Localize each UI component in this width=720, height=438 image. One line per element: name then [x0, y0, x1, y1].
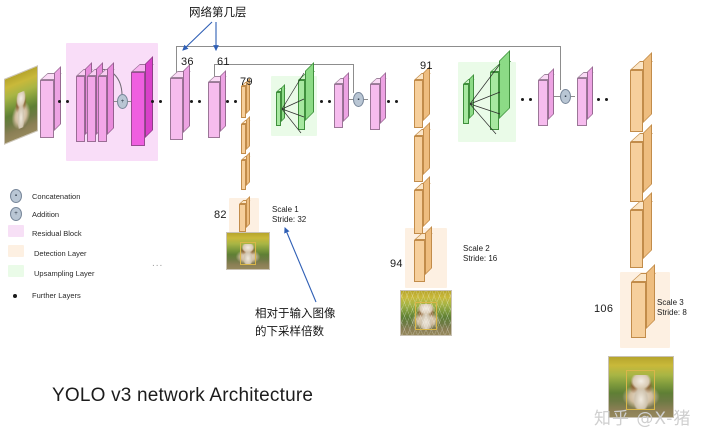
legend-label-detection-layer: Detection Layer — [34, 249, 87, 258]
detection-layer-81 — [241, 160, 246, 190]
further-layers-dot — [66, 100, 69, 103]
scale1-label: Scale 1 Stride: 32 — [272, 205, 306, 226]
downsample-note-line2: 的下采样倍数 — [255, 323, 324, 339]
concat-glyph: ▪ — [357, 96, 359, 102]
detection-layer-91 — [414, 80, 423, 128]
scale3-stride: Stride: 8 — [657, 308, 687, 318]
further-layers-dot — [387, 100, 390, 103]
further-layers-dot — [320, 100, 323, 103]
skip-line-36-drop — [560, 46, 561, 90]
further-layers-dot — [198, 100, 201, 103]
upsampling-fan-lines-2 — [466, 62, 506, 140]
scale2-name: Scale 2 — [463, 244, 497, 254]
legend-upsampling-swatch-icon — [8, 265, 24, 277]
layer-number-82: 82 — [214, 209, 227, 221]
conv-layer-post-concat-2 — [577, 78, 587, 126]
watermark: 知乎 @X-猪 — [594, 404, 691, 429]
layer-number-91: 91 — [420, 60, 433, 72]
addition-node-icon: + — [117, 94, 128, 109]
detection-layer-79 — [241, 86, 246, 118]
layer-number-36: 36 — [181, 56, 194, 68]
legend-label-upsampling-layer: Upsampling Layer — [34, 269, 94, 278]
further-layers-dot — [529, 98, 532, 101]
further-layers-dot — [159, 100, 162, 103]
layer-number-106: 106 — [594, 303, 613, 315]
detection-layer-80 — [241, 124, 246, 154]
concat-node-2-icon: ▪ — [560, 89, 571, 104]
residual-conv-3 — [98, 76, 107, 142]
scale2-label: Scale 2 Stride: 16 — [463, 244, 497, 265]
legend-concat-node-icon: ▪ — [10, 189, 22, 203]
layer-number-94: 94 — [390, 258, 403, 270]
scale3-name: Scale 3 — [657, 298, 687, 308]
skip-line-61-horizontal — [214, 64, 353, 65]
upsampling-fan-lines-1 — [279, 71, 311, 137]
detection-layer-93 — [414, 190, 423, 234]
input-image-dog — [15, 90, 28, 131]
residual-conv-1 — [76, 76, 85, 142]
scale1-name: Scale 1 — [272, 205, 306, 215]
legend-label-concatenation: Concatenation — [32, 192, 80, 201]
further-layers-dot — [328, 100, 331, 103]
detection-layer-103 — [630, 70, 643, 132]
layer-index-note: 网络第几层 — [189, 4, 247, 20]
legend-further-layers-dot-icon — [13, 294, 17, 298]
further-layers-dot — [605, 98, 608, 101]
residual-output-conv — [131, 72, 145, 146]
legend-residual-swatch-icon — [8, 225, 24, 237]
downsample-note-line1: 相对于输入图像 — [255, 305, 336, 321]
addition-glyph: + — [14, 211, 18, 217]
detection-layer-104 — [630, 142, 643, 202]
conv-layer-pre-concat-2 — [538, 80, 548, 126]
concat-glyph: ▪ — [564, 93, 566, 99]
scale1-output-image — [226, 232, 270, 270]
conv-layer-36 — [170, 78, 183, 140]
further-layers-dot — [597, 98, 600, 101]
conv-layer-post-concat-1 — [370, 84, 380, 130]
conv-layer-pre-concat-1 — [334, 84, 343, 128]
detection-layer-94 — [414, 240, 425, 282]
further-layers-dot — [151, 100, 154, 103]
further-layers-dot — [190, 100, 193, 103]
detection-layer-106 — [631, 282, 646, 338]
further-layers-dot — [234, 100, 237, 103]
scale2-bbox — [415, 302, 437, 330]
further-layers-ellipsis: ... — [152, 258, 163, 269]
conv-layer-input — [40, 80, 54, 138]
concat-glyph: ▪ — [15, 193, 17, 199]
addition-glyph: + — [121, 98, 125, 104]
legend-detection-swatch-icon — [8, 245, 24, 257]
further-layers-dot — [395, 100, 398, 103]
yolov3-architecture-diagram: + — [0, 0, 720, 438]
legend-label-further-layers: Further Layers — [32, 291, 81, 300]
legend-label-addition: Addition — [32, 210, 59, 219]
further-layers-dot — [226, 100, 229, 103]
layer-number-79: 79 — [240, 76, 253, 88]
input-image-thumbnail — [4, 65, 38, 145]
downsample-note-arrow — [278, 222, 320, 306]
further-layers-dot — [521, 98, 524, 101]
scale3-label: Scale 3 Stride: 8 — [657, 298, 687, 319]
page-title: YOLO v3 network Architecture — [52, 385, 313, 407]
further-layers-dot — [58, 100, 61, 103]
detection-layer-105 — [630, 210, 643, 268]
scale2-stride: Stride: 16 — [463, 254, 497, 264]
legend-label-residual-block: Residual Block — [32, 229, 82, 238]
detection-layer-82 — [239, 204, 246, 232]
detection-layer-92 — [414, 136, 423, 182]
residual-conv-2 — [87, 76, 96, 142]
scale1-bbox — [240, 242, 257, 264]
skip-line-61-drop — [353, 64, 354, 93]
conv-layer-61 — [208, 82, 220, 138]
concat-node-1-icon: ▪ — [353, 92, 364, 107]
layer-number-61: 61 — [217, 56, 230, 68]
legend-addition-node-icon: + — [10, 207, 22, 221]
scale2-output-image — [400, 290, 452, 336]
scale1-stride: Stride: 32 — [272, 215, 306, 225]
